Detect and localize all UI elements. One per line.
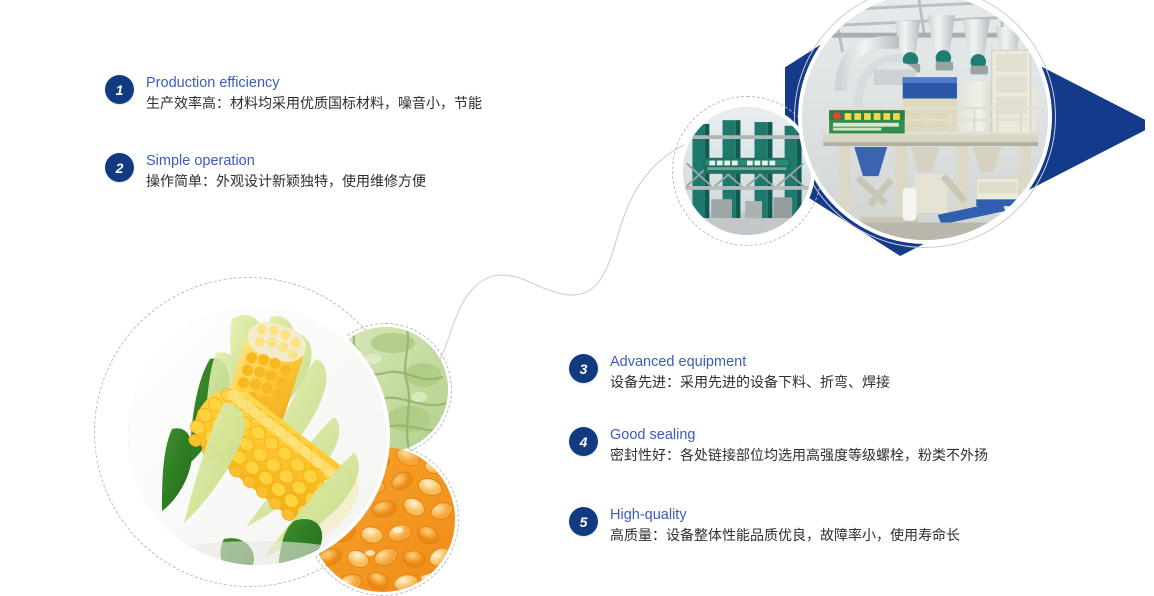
feature-text-5: High-quality 高质量：设备整体性能品质优良，故障率小，使用寿命长 (610, 506, 960, 547)
feature-desc-2: 操作简单：外观设计新颖独特，使用维修方便 (146, 172, 426, 193)
feature-text-1: Production efficiency 生产效率高：材料均采用优质国标材料，… (146, 74, 482, 115)
feature-badge-1: 1 (105, 75, 134, 104)
feature-desc-3: 设备先进：采用先进的设备下料、折弯、焊接 (610, 373, 890, 394)
feature-title-1: Production efficiency (146, 74, 482, 93)
feature-badge-2: 2 (105, 153, 134, 182)
feature-title-3: Advanced equipment (610, 353, 890, 372)
feature-desc-5: 高质量：设备整体性能品质优良，故障率小，使用寿命长 (610, 526, 960, 547)
feature-title-2: Simple operation (146, 152, 426, 171)
feature-text-4: Good sealing 密封性好：各处链接部位均选用高强度等级螺栓，粉类不外扬 (610, 426, 988, 467)
feature-desc-1: 生产效率高：材料均采用优质国标材料，噪音小，节能 (146, 94, 482, 115)
feature-desc-4: 密封性好：各处链接部位均选用高强度等级螺栓，粉类不外扬 (610, 446, 988, 467)
flour-mill-plant-photo (798, 0, 1052, 244)
feature-badge-4: 4 (569, 427, 598, 456)
feature-badge-3: 3 (569, 354, 598, 383)
feature-text-2: Simple operation 操作简单：外观设计新颖独特，使用维修方便 (146, 152, 426, 193)
feature-title-5: High-quality (610, 506, 960, 525)
feature-item-4[interactable]: 4 Good sealing 密封性好：各处链接部位均选用高强度等级螺栓，粉类不… (569, 426, 988, 467)
infographic-stage: 1 Production efficiency 生产效率高：材料均采用优质国标材… (0, 0, 1154, 591)
feature-item-1[interactable]: 1 Production efficiency 生产效率高：材料均采用优质国标材… (105, 74, 482, 115)
hexagon-photo-cluster (660, 0, 1154, 269)
feature-item-3[interactable]: 3 Advanced equipment 设备先进：采用先进的设备下料、折弯、焊… (569, 353, 890, 394)
feature-item-5[interactable]: 5 High-quality 高质量：设备整体性能品质优良，故障率小，使用寿命长 (569, 506, 960, 547)
corn-cob-photo (128, 307, 386, 565)
feature-item-2[interactable]: 2 Simple operation 操作简单：外观设计新颖独特，使用维修方便 (105, 152, 426, 193)
teal-mill-line-photo (679, 103, 815, 239)
corn-photo-cluster (88, 282, 488, 594)
feature-badge-5: 5 (569, 507, 598, 536)
feature-title-4: Good sealing (610, 426, 988, 445)
feature-text-3: Advanced equipment 设备先进：采用先进的设备下料、折弯、焊接 (610, 353, 890, 394)
